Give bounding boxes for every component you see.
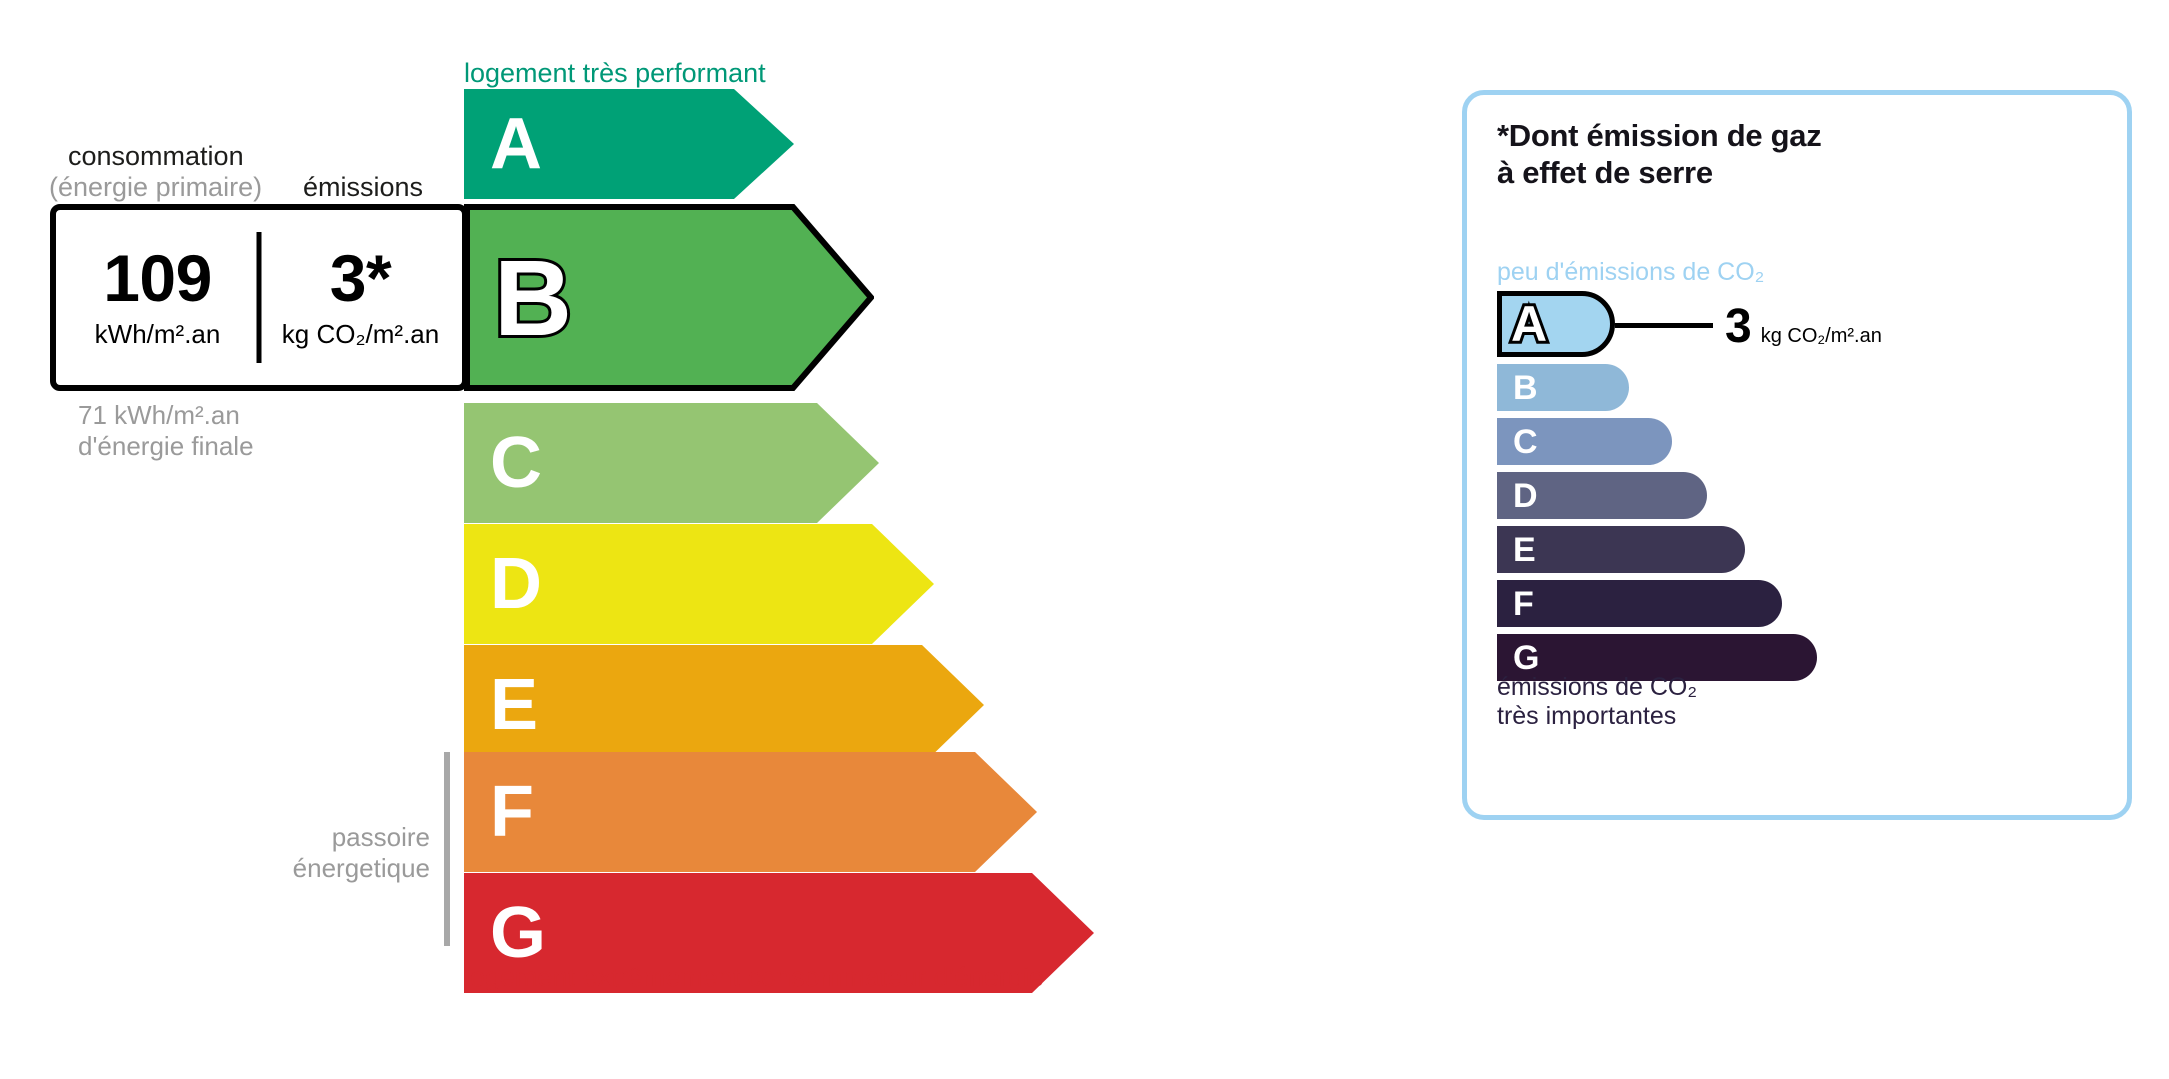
- ges-bar-letter-g: G: [1513, 641, 1539, 675]
- energy-bar-letter-e: E: [490, 669, 538, 741]
- consumption-value-cell: 109 kWh/m².an: [56, 210, 259, 385]
- ges-bar-letter-a: A: [1511, 299, 1547, 349]
- ges-bar-letter-d: D: [1513, 479, 1538, 513]
- ges-co2-panel: *Dont émission de gaz à effet de serre p…: [1462, 90, 2132, 820]
- ges-bar-letter-f: F: [1513, 587, 1534, 621]
- energy-bar-letter-a: A: [490, 108, 542, 180]
- ges-class-bars: A3kg CO₂/m².anBCDEFG: [1497, 291, 2107, 688]
- ges-bar-c: C: [1497, 418, 2107, 465]
- ges-bar-a: A3kg CO₂/m².an: [1497, 291, 2107, 357]
- energy-bar-shape-f: [464, 752, 1037, 872]
- best-performance-caption: logement très performant: [464, 58, 766, 89]
- final-energy-note: 71 kWh/m².an d'énergie finale: [78, 400, 254, 461]
- ges-panel-title: *Dont émission de gaz à effet de serre: [1497, 117, 1821, 191]
- energy-bar-letter-f: F: [490, 776, 534, 848]
- energy-bar-letter-g: G: [490, 897, 546, 969]
- emissions-unit: kg CO₂/m².an: [282, 319, 439, 350]
- ges-bar-letter-b: B: [1513, 371, 1538, 405]
- energy-bar-letter-b: B: [494, 244, 572, 352]
- energy-class-bars: ABCDEFG: [0, 0, 1400, 1079]
- energy-bar-c: C: [464, 403, 879, 523]
- passoire-label: passoire énergetique: [270, 822, 430, 884]
- energy-bar-e: E: [464, 645, 984, 765]
- energy-bar-b: B: [464, 204, 874, 391]
- ges-bar-letter-e: E: [1513, 533, 1536, 567]
- ges-bar-b: B: [1497, 364, 2107, 411]
- ges-value: 3: [1725, 303, 1752, 351]
- ges-bar-e: E: [1497, 526, 2107, 573]
- ges-value-connector-line: [1615, 323, 1713, 328]
- worst-performance-caption: logement extrêmement consommateur d'éner…: [464, 962, 1044, 993]
- energy-value-box: 109 kWh/m².an 3* kg CO₂/m².an: [50, 204, 468, 391]
- emissions-value-cell: 3* kg CO₂/m².an: [259, 210, 462, 385]
- energy-bar-shape-e: [464, 645, 984, 765]
- ges-value-unit: kg CO₂/m².an: [1761, 325, 1882, 348]
- ges-high-emissions-caption: émissions de CO₂ très importantes: [1497, 673, 1697, 731]
- energy-bar-letter-d: D: [490, 548, 542, 620]
- energy-bar-letter-c: C: [490, 427, 542, 499]
- ges-value-group: 3kg CO₂/m².an: [1725, 303, 1882, 351]
- ges-bar-d: D: [1497, 472, 2107, 519]
- consumption-value: 109: [103, 245, 212, 311]
- energy-performance-panel: consommation (énergie primaire) émission…: [0, 0, 1400, 1079]
- ges-bar-shape-f: [1497, 580, 1782, 627]
- ges-low-emissions-caption: peu d'émissions de CO₂: [1497, 258, 1764, 287]
- energy-bar-a: A: [464, 89, 794, 199]
- ges-bar-f: F: [1497, 580, 2107, 627]
- ges-bar-letter-c: C: [1513, 425, 1538, 459]
- consumption-unit: kWh/m².an: [95, 319, 221, 350]
- emissions-value: 3*: [330, 245, 391, 311]
- energy-bar-f: F: [464, 752, 1037, 872]
- energy-bar-d: D: [464, 524, 934, 644]
- passoire-bracket: [444, 752, 450, 946]
